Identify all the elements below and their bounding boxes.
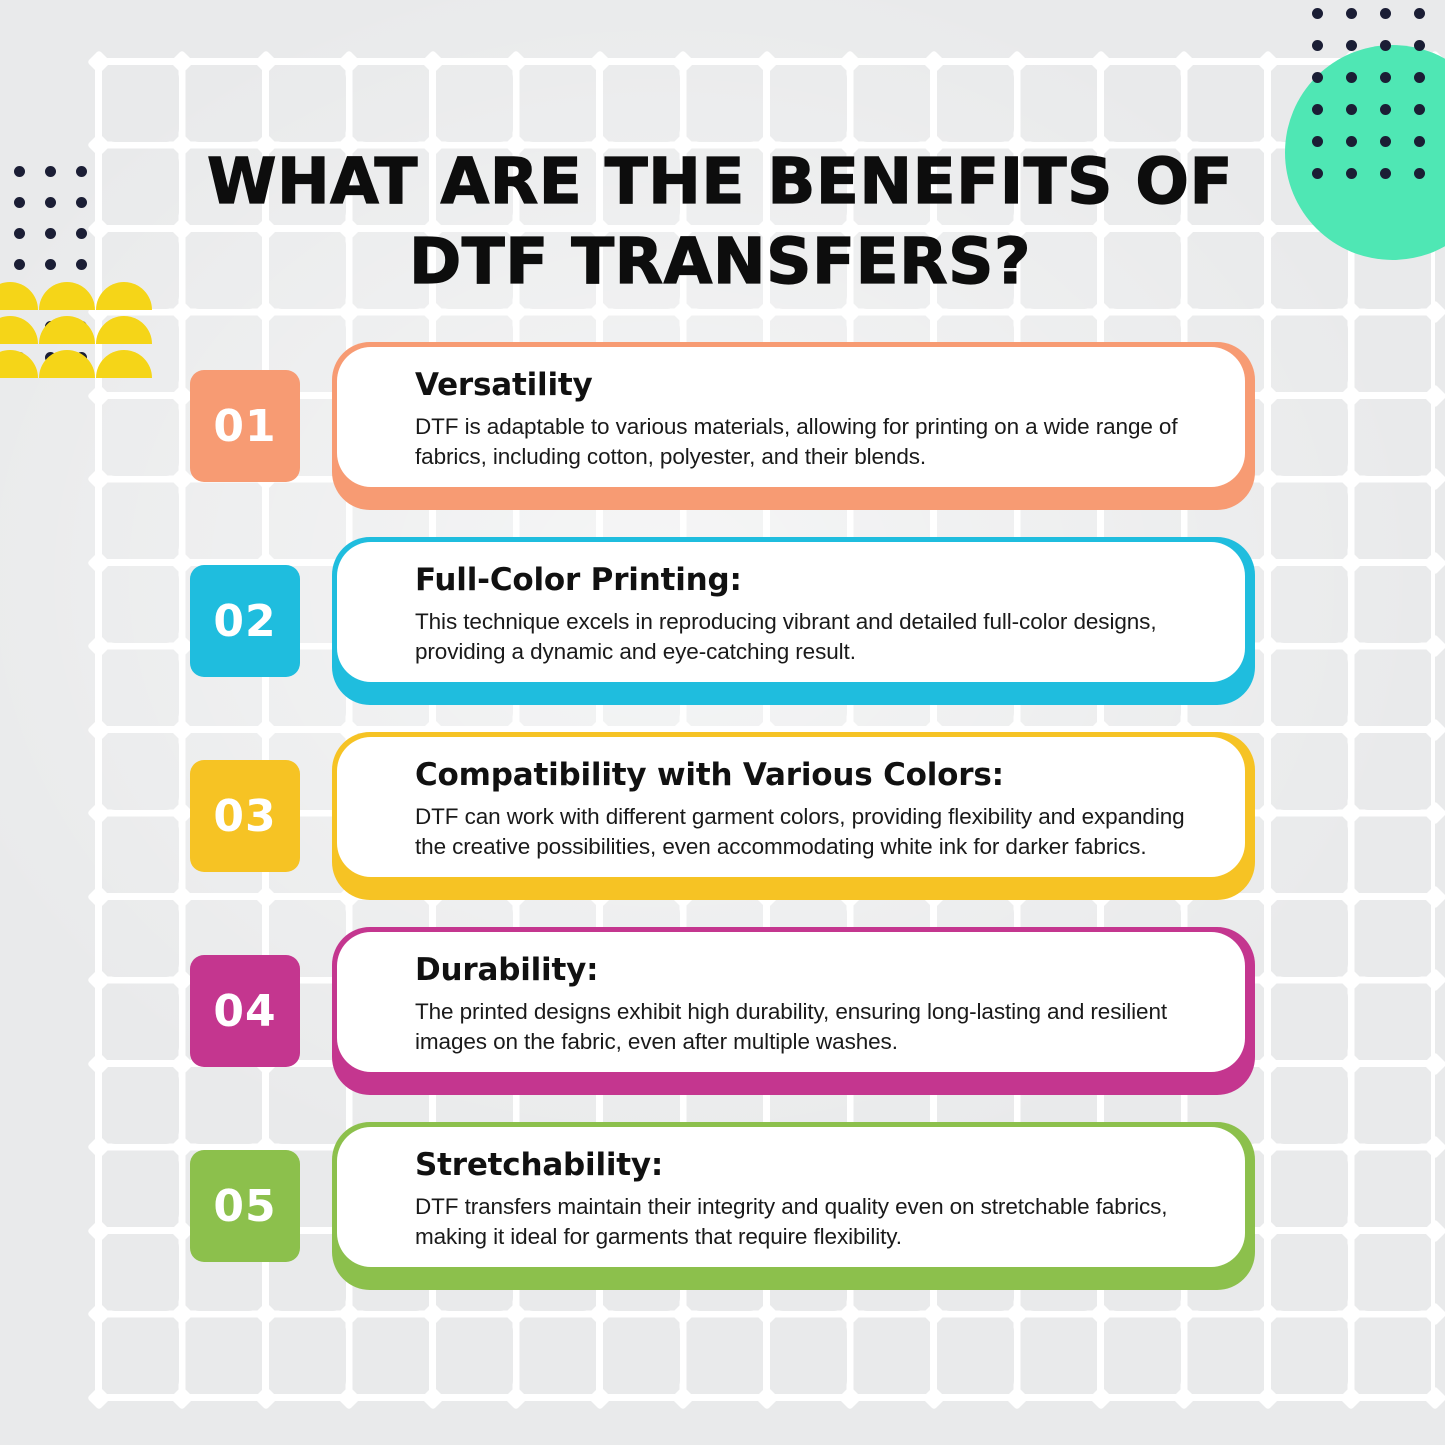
benefit-row: 04Durability:The printed designs exhibit… xyxy=(0,923,1445,1118)
benefit-description: The printed designs exhibit high durabil… xyxy=(415,997,1211,1057)
badge-number: 02 xyxy=(213,596,276,647)
benefit-description: DTF can work with different garment colo… xyxy=(415,802,1211,862)
benefit-title: Durability: xyxy=(415,950,1211,990)
benefit-row: 05Stretchability:DTF transfers maintain … xyxy=(0,1118,1445,1313)
benefit-title: Versatility xyxy=(415,365,1211,405)
benefit-card: Compatibility with Various Colors:DTF ca… xyxy=(337,737,1245,877)
infographic-poster: WHAT ARE THE BENEFITS OF DTF TRANSFERS? … xyxy=(0,0,1445,1445)
benefit-description: DTF transfers maintain their integrity a… xyxy=(415,1192,1211,1252)
benefit-title: Full-Color Printing: xyxy=(415,560,1211,600)
benefit-row: 02Full-Color Printing:This technique exc… xyxy=(0,533,1445,728)
badge-number: 04 xyxy=(213,986,276,1037)
benefit-row: 01VersatilityDTF is adaptable to various… xyxy=(0,338,1445,533)
benefit-description: DTF is adaptable to various materials, a… xyxy=(415,412,1211,472)
badge-number: 03 xyxy=(213,791,276,842)
dot-grid-left-decoration xyxy=(14,166,94,366)
benefit-description: This technique excels in reproducing vib… xyxy=(415,607,1211,667)
number-badge: 02 xyxy=(190,565,300,677)
benefit-title: Compatibility with Various Colors: xyxy=(415,755,1211,795)
benefit-card: Stretchability:DTF transfers maintain th… xyxy=(337,1127,1245,1267)
number-badge: 03 xyxy=(190,760,300,872)
benefit-card: VersatilityDTF is adaptable to various m… xyxy=(337,347,1245,487)
number-badge: 04 xyxy=(190,955,300,1067)
benefit-card: Full-Color Printing:This technique excel… xyxy=(337,542,1245,682)
number-badge: 05 xyxy=(190,1150,300,1262)
badge-number: 01 xyxy=(213,401,276,452)
number-badge: 01 xyxy=(190,370,300,482)
benefit-row: 03Compatibility with Various Colors:DTF … xyxy=(0,728,1445,923)
benefit-title: Stretchability: xyxy=(415,1145,1211,1185)
teal-circle-decoration xyxy=(1285,45,1445,260)
benefit-card: Durability:The printed designs exhibit h… xyxy=(337,932,1245,1072)
page-title: WHAT ARE THE BENEFITS OF DTF TRANSFERS? xyxy=(160,142,1280,302)
benefits-list: 01VersatilityDTF is adaptable to various… xyxy=(0,338,1445,1313)
badge-number: 05 xyxy=(213,1181,276,1232)
